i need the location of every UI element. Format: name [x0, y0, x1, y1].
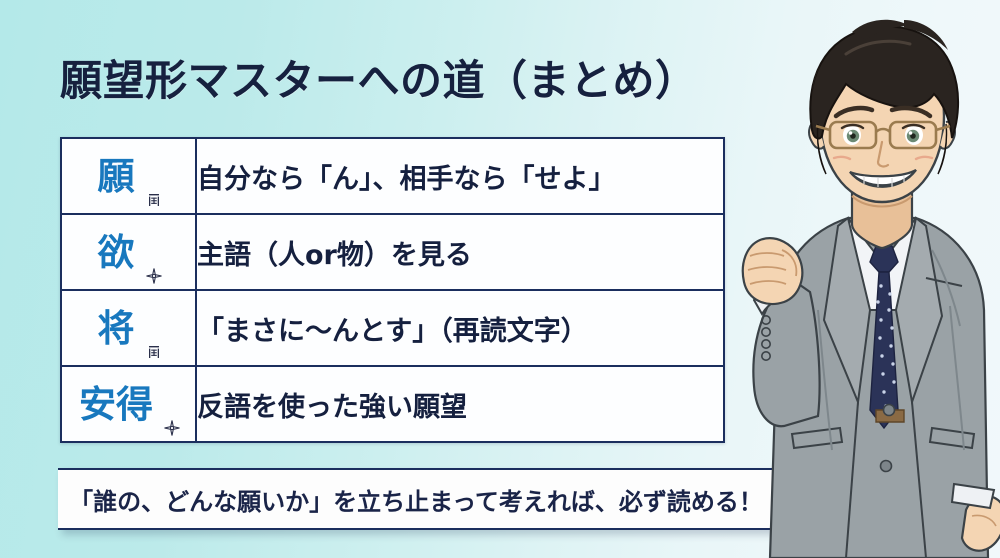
small-kanji-mark-icon	[146, 192, 162, 208]
description-cell: 主語（人or物）を見る	[196, 214, 724, 290]
slide-canvas: 願望形マスターへの道（まとめ） 願	[0, 0, 1000, 558]
four-point-star-mark-icon	[146, 268, 162, 284]
kanji-cell: 欲	[61, 214, 196, 290]
bottom-banner-text: 「誰の、どんな願いか」を立ち止まって考えれば、必ず読める！	[69, 482, 763, 517]
table-row: 願	[61, 138, 724, 214]
kanji-label: 安得	[79, 386, 153, 423]
kanji-label: 欲	[97, 234, 134, 271]
table-row: 将	[61, 290, 724, 366]
table-row: 安得 反語を使った強い願望	[61, 366, 724, 442]
kanji-cell: 願	[61, 138, 196, 214]
kanji-cell: 安得	[61, 366, 196, 442]
four-point-star-mark-icon	[164, 420, 180, 436]
table-row: 欲 主語（人or物）を見る	[61, 214, 724, 290]
bottom-banner: 「誰の、どんな願いか」を立ち止まって考えれば、必ず読める！	[58, 468, 774, 530]
kanji-label: 将	[97, 310, 134, 347]
description-cell: 自分なら「ん」、相手なら「せよ」	[196, 138, 724, 214]
description-cell: 「まさに〜んとす」（再読文字）	[196, 290, 724, 366]
small-kanji-mark-icon	[146, 344, 162, 360]
summary-table: 願	[60, 137, 725, 443]
kanji-label: 願	[97, 158, 134, 195]
page-title: 願望形マスターへの道（まとめ）	[60, 47, 698, 108]
kanji-cell: 将	[61, 290, 196, 366]
description-cell: 反語を使った強い願望	[196, 366, 724, 442]
